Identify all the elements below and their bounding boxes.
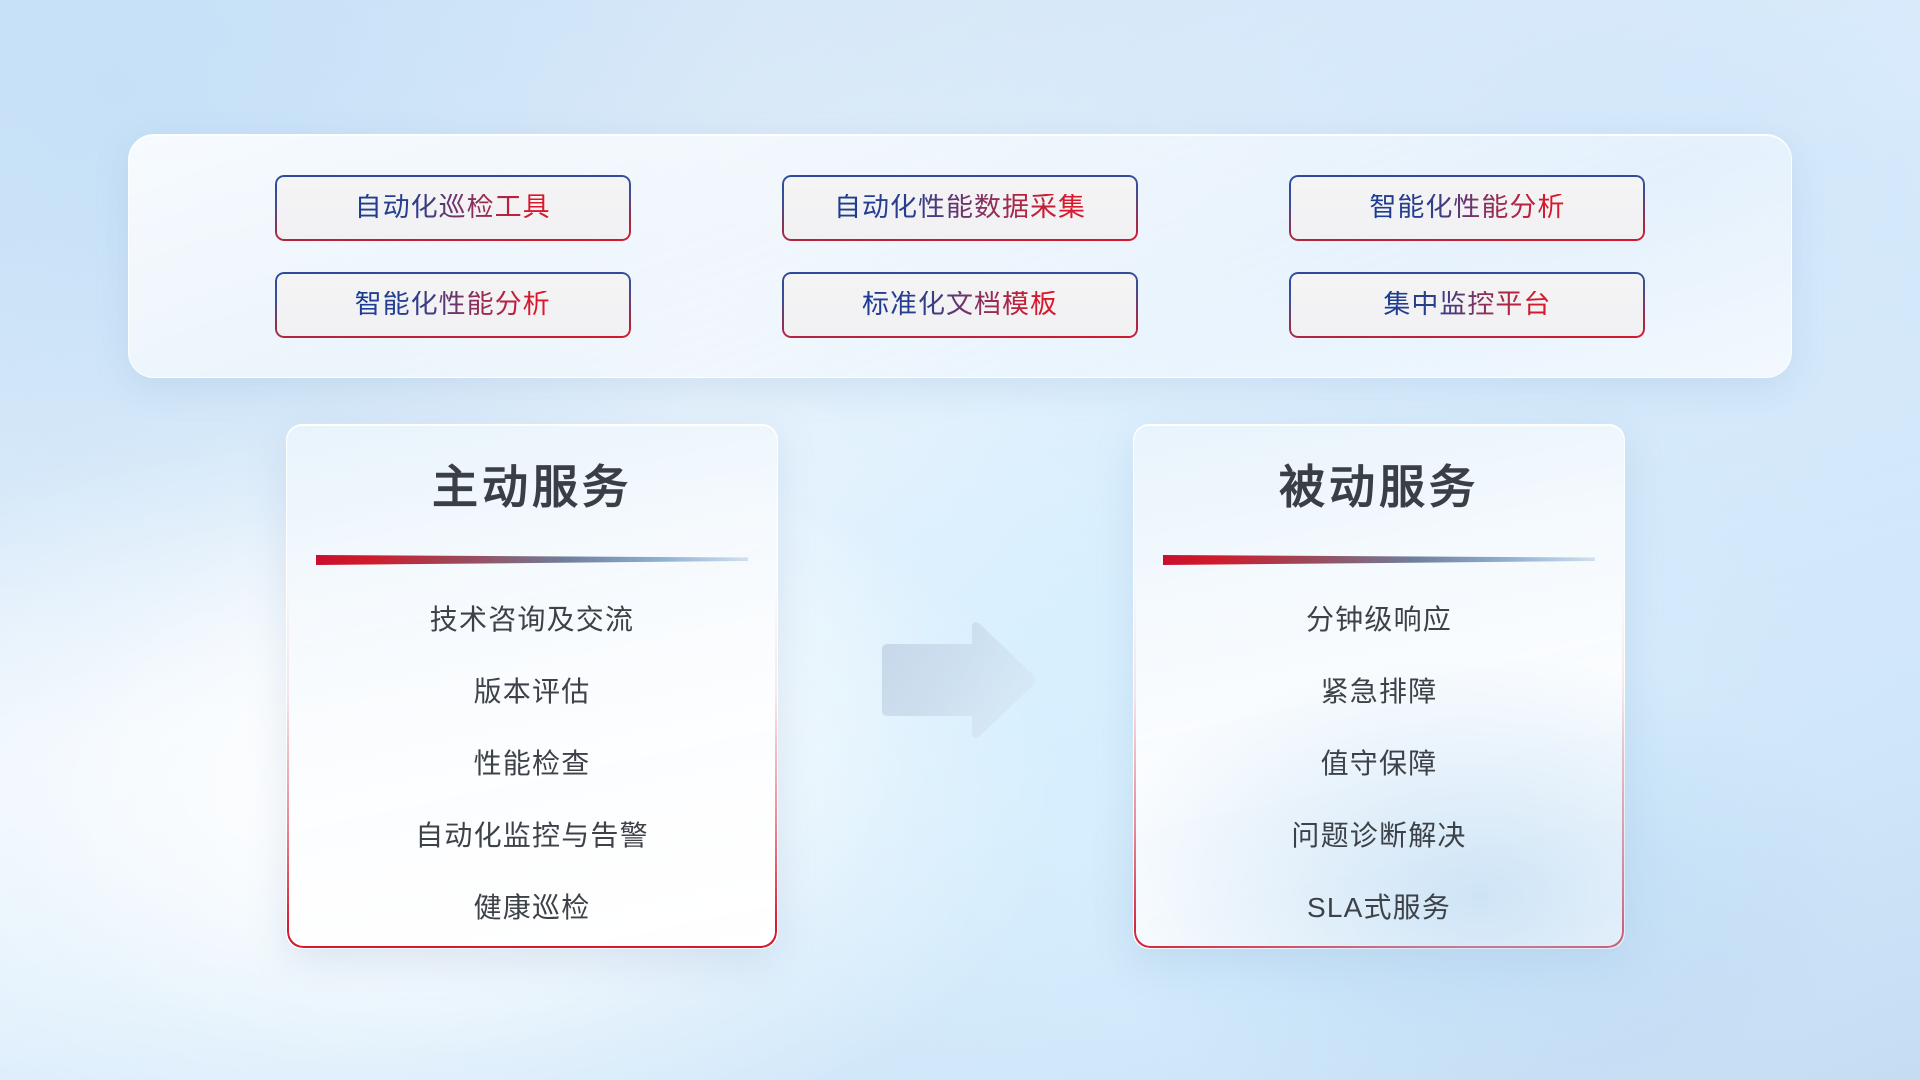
capability-tag-label: 智能化性能分析 xyxy=(355,291,551,318)
service-list-item: 性能检查 xyxy=(287,750,777,778)
capability-tag-label: 自动化性能数据采集 xyxy=(834,194,1086,221)
capability-tags-panel: 自动化巡检工具 自动化性能数据采集 智能化性能分析 智能化性能分析 标准化文档模… xyxy=(128,134,1792,378)
service-list-item: 紧急排障 xyxy=(1134,678,1624,706)
service-list-item: 分钟级响应 xyxy=(1134,606,1624,634)
service-list-item: SLA式服务 xyxy=(1134,894,1624,922)
service-list-item: 问题诊断解决 xyxy=(1134,822,1624,850)
service-card-proactive: 主动服务 技术咨询及交流 版本评估 性能检查 自动化监控与告警 健康巡检 xyxy=(286,424,778,949)
service-list-item: 技术咨询及交流 xyxy=(287,606,777,634)
capability-tag[interactable]: 标准化文档模板 xyxy=(782,272,1138,338)
capability-tag-label: 智能化性能分析 xyxy=(1369,194,1565,221)
service-item-list: 分钟级响应 紧急排障 值守保障 问题诊断解决 SLA式服务 xyxy=(1134,606,1624,922)
title-divider-icon xyxy=(1163,552,1595,568)
service-list-item: 自动化监控与告警 xyxy=(287,822,777,850)
card-title: 被动服务 xyxy=(1134,461,1624,514)
service-list-item: 健康巡检 xyxy=(287,894,777,922)
capability-tag-label: 标准化文档模板 xyxy=(862,291,1058,318)
capability-tag[interactable]: 集中监控平台 xyxy=(1289,272,1645,338)
capability-tag[interactable]: 自动化性能数据采集 xyxy=(782,175,1138,241)
service-list-item: 值守保障 xyxy=(1134,750,1624,778)
capability-tag[interactable]: 自动化巡检工具 xyxy=(275,175,631,241)
capability-tag[interactable]: 智能化性能分析 xyxy=(275,272,631,338)
card-title: 主动服务 xyxy=(287,461,777,514)
capability-tag-label: 自动化巡检工具 xyxy=(355,194,551,221)
capability-tag[interactable]: 智能化性能分析 xyxy=(1289,175,1645,241)
capability-tag-label: 集中监控平台 xyxy=(1383,291,1551,318)
service-item-list: 技术咨询及交流 版本评估 性能检查 自动化监控与告警 健康巡检 xyxy=(287,606,777,922)
title-divider-icon xyxy=(316,552,748,568)
service-card-reactive: 被动服务 分钟级响应 紧急排障 值守保障 问题诊断解决 SLA式服务 xyxy=(1133,424,1625,949)
arrow-right-icon xyxy=(872,616,1040,746)
service-list-item: 版本评估 xyxy=(287,678,777,706)
slide-canvas: 自动化巡检工具 自动化性能数据采集 智能化性能分析 智能化性能分析 标准化文档模… xyxy=(0,0,1920,1080)
